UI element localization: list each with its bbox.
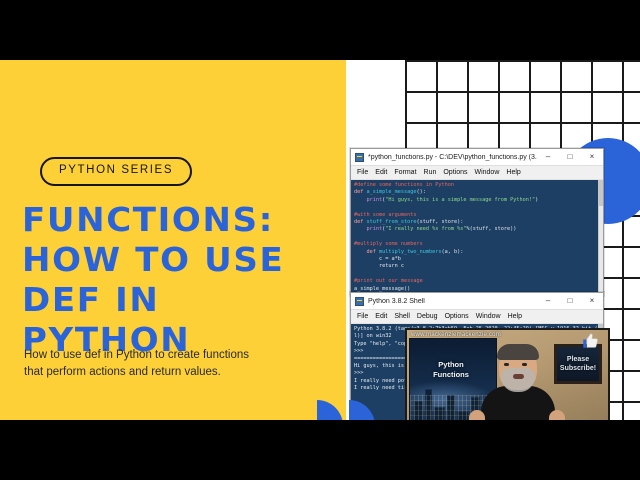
code-line: #print out our message — [354, 278, 603, 285]
please-subscribe-sign: PleaseSubscribe! — [554, 344, 602, 384]
code-line — [354, 234, 603, 241]
menu-item-edit[interactable]: Edit — [375, 313, 387, 320]
subscribe-sign-text: PleaseSubscribe! — [560, 355, 596, 373]
code-line — [354, 204, 603, 211]
menu-item-options[interactable]: Options — [443, 169, 467, 176]
code-line: print("Hi guys, this is a simple message… — [354, 197, 603, 204]
thumbs-up-icon — [580, 332, 600, 350]
letterbox-bar-top — [0, 0, 640, 60]
menu-item-format[interactable]: Format — [394, 169, 416, 176]
menu-item-file[interactable]: File — [357, 313, 368, 320]
url-watermark: www.mackenziemackenzie.com — [411, 332, 501, 338]
letterbox-bar-bottom — [0, 420, 640, 480]
code-line: def stuff_from_store(stuff, store): — [354, 219, 603, 226]
editor-title-text: *python_functions.py - C:\DEV\python_fun… — [368, 154, 537, 161]
menu-item-options[interactable]: Options — [445, 313, 469, 320]
python-idle-icon — [355, 297, 364, 306]
slide-canvas: PYTHON SERIES Functions: how to use def … — [0, 0, 640, 480]
close-button[interactable]: × — [581, 293, 603, 309]
code-line: #with some arguments — [354, 212, 603, 219]
minimize-button[interactable]: – — [537, 149, 559, 165]
editor-menubar[interactable]: File Edit Format Run Options Window Help — [351, 166, 603, 180]
code-line: c = a*b — [354, 256, 603, 263]
menu-item-help[interactable]: Help — [506, 169, 520, 176]
code-line: #define some functions in Python — [354, 182, 603, 189]
shell-window-controls[interactable]: – □ × — [537, 293, 603, 309]
menu-item-file[interactable]: File — [357, 169, 368, 176]
editor-scrollbar[interactable] — [598, 180, 603, 296]
slide-content-area: PYTHON SERIES Functions: how to use def … — [0, 60, 640, 420]
subtitle-line-1: How to use def in Python to create funct… — [24, 347, 304, 364]
menu-item-window[interactable]: Window — [474, 169, 499, 176]
close-button[interactable]: × — [581, 149, 603, 165]
subtitle-line-2: that perform actions and return values. — [24, 364, 304, 381]
editor-titlebar[interactable]: *python_functions.py - C:\DEV\python_fun… — [351, 149, 603, 166]
headline-line-3: def in — [22, 280, 331, 320]
editor-window-controls[interactable]: – □ × — [537, 149, 603, 165]
headline-line-1: Functions: — [22, 200, 331, 240]
menu-item-window[interactable]: Window — [476, 313, 501, 320]
menu-item-help[interactable]: Help — [508, 313, 522, 320]
code-line: def a_simple_message(): — [354, 189, 603, 196]
code-line: def multiply_two_numbers(a, b): — [354, 249, 603, 256]
webcam-overlay: PythonFunctions PleaseSubscribe! www.mac… — [405, 328, 610, 420]
page-title: Functions: how to use def in python — [22, 200, 331, 360]
shell-titlebar[interactable]: Python 3.8.2 Shell – □ × — [351, 293, 603, 310]
maximize-button[interactable]: □ — [559, 293, 581, 309]
menu-item-shell[interactable]: Shell — [394, 313, 410, 320]
code-line — [354, 271, 603, 278]
poster-caption: PythonFunctions — [413, 360, 489, 380]
editor-code-area[interactable]: #define some functions in Pythondef a_si… — [351, 180, 603, 296]
shell-title-text: Python 3.8.2 Shell — [368, 298, 537, 305]
presenter-avatar — [475, 344, 561, 420]
code-line: return c — [354, 263, 603, 270]
subtitle: How to use def in Python to create funct… — [24, 347, 304, 381]
code-line: print("I really need %s from %s"%(stuff,… — [354, 226, 603, 233]
python-editor-window[interactable]: *python_functions.py - C:\DEV\python_fun… — [350, 148, 604, 296]
minimize-button[interactable]: – — [537, 293, 559, 309]
python-series-badge: PYTHON SERIES — [40, 157, 192, 186]
code-line: #multiply some numbers — [354, 241, 603, 248]
maximize-button[interactable]: □ — [559, 149, 581, 165]
headline-line-2: how to use — [22, 240, 331, 280]
menu-item-edit[interactable]: Edit — [375, 169, 387, 176]
menu-item-run[interactable]: Run — [424, 169, 437, 176]
shell-menubar[interactable]: File Edit Shell Debug Options Window Hel… — [351, 310, 603, 324]
python-idle-icon — [355, 153, 364, 162]
menu-item-debug[interactable]: Debug — [417, 313, 438, 320]
